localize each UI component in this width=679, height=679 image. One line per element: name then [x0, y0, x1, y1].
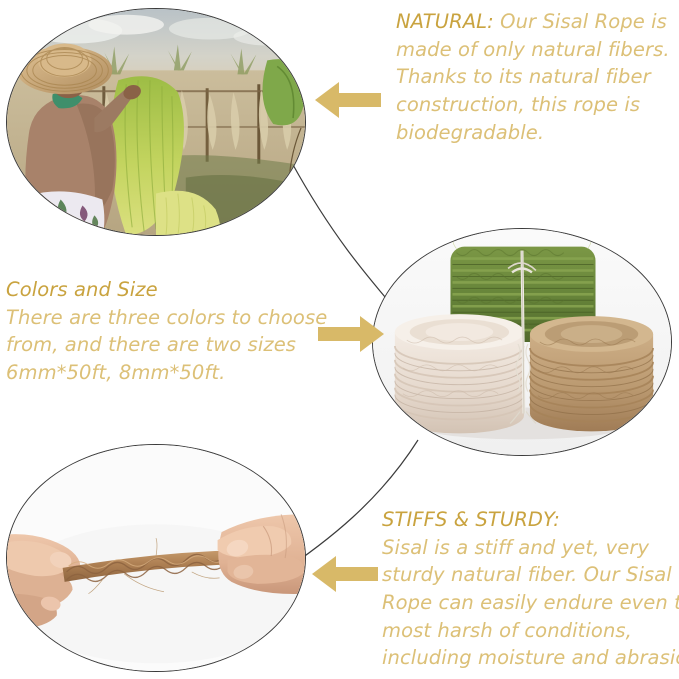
feature-heading-natural: NATURAL: [396, 10, 494, 33]
infographic-canvas: NATURAL: Our Sisal Rope is made of only … [0, 0, 679, 679]
feature-colors-line-2: from, and there are two sizes [6, 331, 336, 359]
photo-sisal-harvest [6, 8, 306, 236]
feature-natural-line-3: construction, this rope is [396, 91, 679, 119]
feature-natural-line-2: Thanks to its natural fiber [396, 63, 679, 91]
feature-natural-line-0: Our Sisal Rope is [494, 10, 667, 33]
feature-colors-line-3: 6mm*50ft, 8mm*50ft. [6, 359, 336, 387]
photo-rope-coils [372, 228, 672, 456]
feature-colors-line-1: There are three colors to choose [6, 304, 336, 332]
feature-text-colors: Colors and Size There are three colors t… [6, 276, 336, 387]
feature-natural-line-1: made of only natural fibers. [396, 36, 679, 64]
feature-heading-sturdy: STIFFS & STURDY: [382, 506, 679, 534]
arrow-left-icon-sturdy [310, 552, 378, 596]
feature-sturdy-line-2: sturdy natural fiber. Our Sisal [382, 561, 679, 589]
feature-text-sturdy: STIFFS & STURDY: Sisal is a stiff and ye… [382, 506, 679, 672]
feature-sturdy-line-4: most harsh of conditions, [382, 617, 679, 645]
feature-sturdy-line-3: Rope can easily endure even the [382, 589, 679, 617]
feature-sturdy-line-1: Sisal is a stiff and yet, very [382, 534, 679, 562]
feature-sturdy-line-5: including moisture and abrasion. [382, 644, 679, 672]
feature-text-natural: NATURAL: Our Sisal Rope is made of only … [396, 8, 679, 146]
arrow-left-icon-natural [313, 78, 381, 122]
feature-natural-line-4: biodegradable. [396, 119, 679, 147]
photo-hands-holding-rope [6, 444, 306, 672]
feature-heading-colors: Colors and Size [6, 276, 336, 304]
